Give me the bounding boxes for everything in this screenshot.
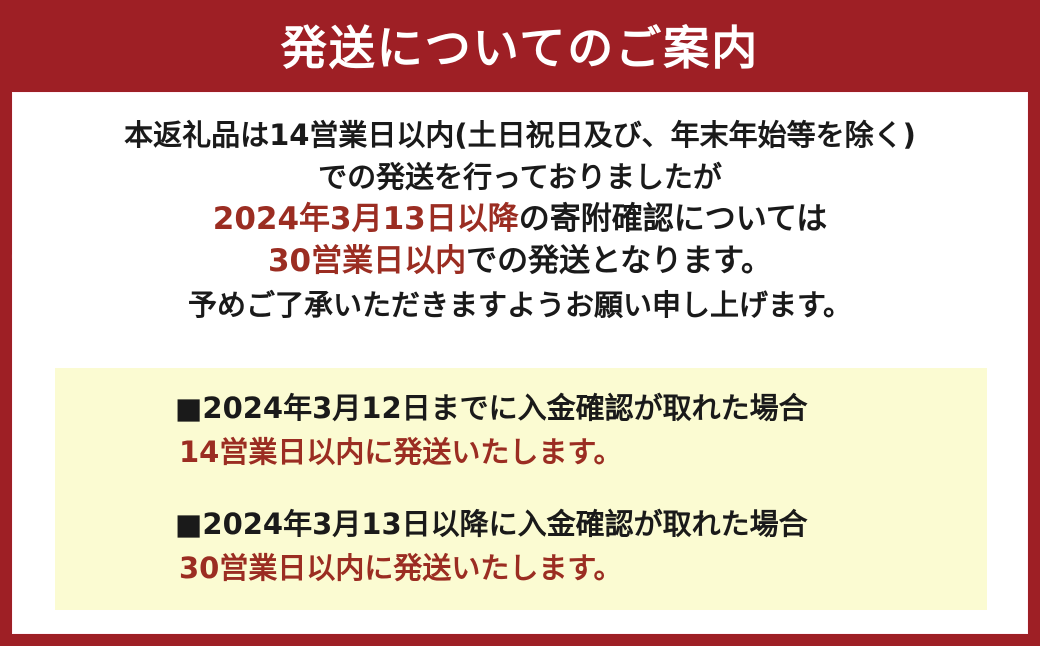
- content-panel: 本返礼品は14営業日以内(土日祝日及び、年末年始等を除く) での発送を行っており…: [12, 92, 1028, 634]
- shipping-cases-box: ■2024年3月12日までに入金確認が取れた場合 14営業日以内に発送いたします…: [55, 368, 987, 610]
- page-title: 発送についてのご案内: [281, 25, 760, 71]
- body-line-4-emphasis: 30営業日以内: [268, 243, 466, 279]
- body-line-1: 本返礼品は14営業日以内(土日祝日及び、年末年始等を除く): [12, 114, 1028, 156]
- case-heading: ■2024年3月13日以降に入金確認が取れた場合: [175, 502, 987, 546]
- body-line-4-rest: での発送となります。: [466, 243, 772, 279]
- body-line-4: 30営業日以内での発送となります。: [12, 240, 1028, 282]
- case-block: ■2024年3月13日以降に入金確認が取れた場合 30営業日以内に発送いたします…: [55, 502, 987, 590]
- body-line-2: での発送を行っておりましたが: [12, 156, 1028, 198]
- shipping-notice-banner: 発送についてのご案内 本返礼品は14営業日以内 での発送を行っておりましたが 2…: [0, 0, 1040, 646]
- case-heading: ■2024年3月12日までに入金確認が取れた場合: [175, 386, 987, 430]
- body-line-3-rest: の寄附確認については: [519, 201, 827, 237]
- case-result: 14営業日以内に発送いたします。: [175, 430, 987, 474]
- body-line-5: 予めご了承いただきますようお願い申し上げます。: [12, 284, 1028, 326]
- case-result: 30営業日以内に発送いたします。: [175, 546, 987, 590]
- header-band: 発送についてのご案内: [0, 0, 1040, 92]
- body-line-3: 2024年3月13日以降の寄附確認については: [12, 198, 1028, 240]
- body-line-3-emphasis: 2024年3月13日以降: [213, 201, 519, 237]
- body-paragraph: 本返礼品は14営業日以内(土日祝日及び、年末年始等を除く) での発送を行っており…: [12, 114, 1028, 326]
- case-block: ■2024年3月12日までに入金確認が取れた場合 14営業日以内に発送いたします…: [55, 386, 987, 474]
